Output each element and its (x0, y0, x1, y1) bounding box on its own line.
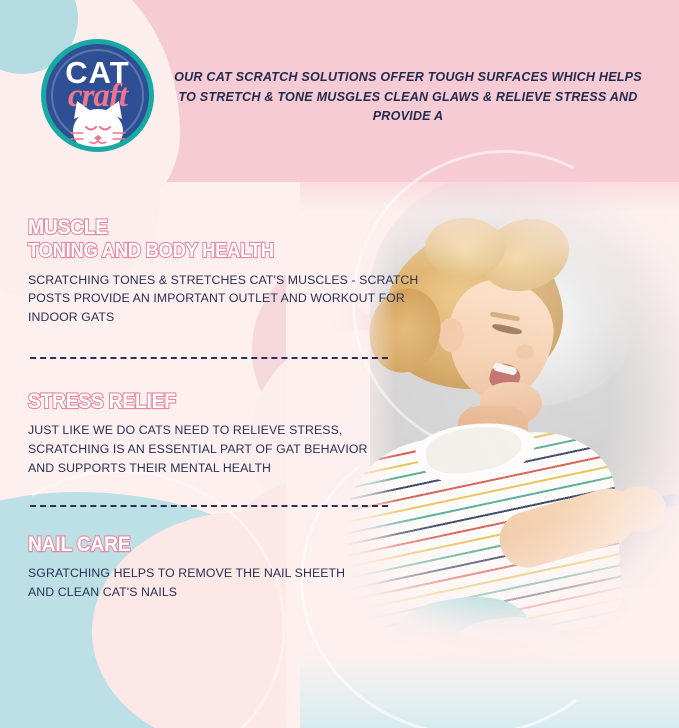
cat-face-icon (69, 97, 127, 152)
section-muscle-body: SCRATCHING TONES & STRETCHES CAT'S MUSCL… (28, 271, 418, 327)
section-nail-care-heading: NAIL CARE (28, 533, 320, 557)
background-teal-blob (0, 492, 320, 728)
section-divider (30, 505, 388, 507)
cat-craft-infographic: CAT craft OUR CAT SCRATCH SOLUTIONS OFFE… (0, 0, 679, 728)
header-tagline: OUR CAT SCRATCH SOLUTIONS OFFER TOUGH SU… (168, 68, 648, 127)
section-muscle: MUSCLE TONING AND BODY HEALTH SCRATCHING… (28, 216, 418, 327)
section-nail-care-body: SGRATCHING HELPS TO REMOVE THE NAIL SHEE… (28, 564, 345, 601)
section-stress-relief-body: JUST LIKE WE DO CATS NEED TO RELIEVE STR… (28, 421, 368, 477)
section-muscle-heading-line1: MUSCLE (28, 216, 387, 240)
section-muscle-heading-line2: TONING AND BODY HEALTH (28, 240, 387, 263)
section-nail-care: NAIL CARE SGRATCHING HELPS TO REMOVE THE… (28, 533, 345, 602)
cat-craft-logo: CAT craft (41, 39, 154, 152)
section-stress-relief-heading: STRESS RELIEF (28, 390, 340, 414)
section-divider (30, 357, 388, 359)
section-stress-relief: STRESS RELIEF JUST LIKE WE DO CATS NEED … (28, 390, 368, 477)
